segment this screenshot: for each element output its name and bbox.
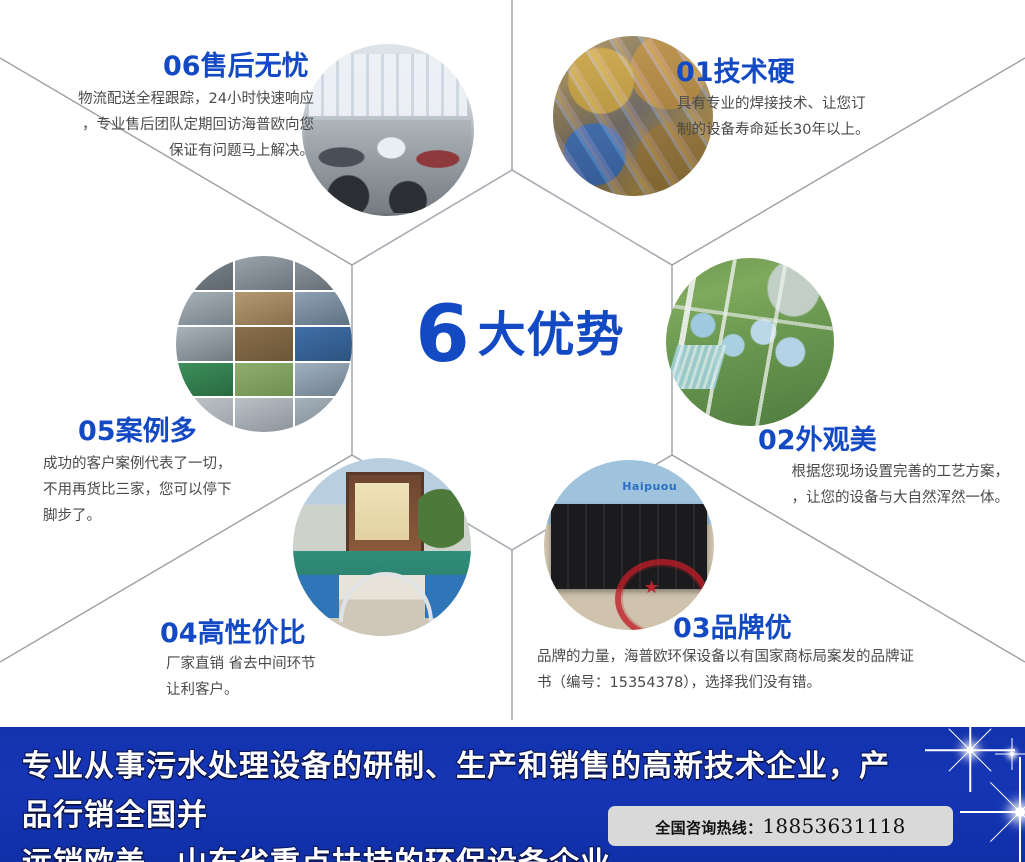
feature-title-05: 案例多 [116, 416, 197, 447]
center-headline: 6 大优势 [390, 290, 650, 380]
feature-desc-01-line1: 具有专业的焊接技术、让您订 [677, 92, 987, 118]
feature-desc-04-line1: 厂家直销 省去中间环节 [166, 652, 446, 678]
feature-photo-04 [293, 458, 471, 636]
feature-desc-06-line3: 保证有问题马上解决。 [22, 139, 314, 165]
hotline-number: 18853631118 [762, 814, 905, 838]
feature-desc-05-line1: 成功的客户案例代表了一切， [43, 452, 303, 478]
feature-title-04: 高性价比 [198, 618, 306, 649]
feature-heading-04: 04高性价比 [160, 611, 306, 650]
feature-heading-06: 06售后无忧 [163, 44, 309, 83]
feature-heading-05: 05案例多 [78, 409, 197, 448]
feature-number-05: 05 [78, 416, 116, 447]
six-advantages-infographic: 6 大优势 06售后无忧 物流配送全程跟踪，24小时快速响应 ，专业售后团队定期… [0, 0, 1025, 862]
feature-desc-06-line2: ，专业售后团队定期回访海普欧向您 [22, 113, 314, 139]
factory-gate-photo [293, 458, 471, 636]
feature-title-03: 品牌优 [711, 613, 792, 644]
feature-desc-03-line1: 品牌的力量，海普欧环保设备以有国家商标局案发的品牌证 [537, 645, 992, 671]
feature-title-06: 售后无忧 [201, 51, 309, 82]
feature-photo-03: Haipuou ★ [544, 460, 714, 630]
feature-desc-04-line2: 让利客户。 [166, 678, 446, 704]
feature-photo-06 [302, 44, 474, 216]
feature-heading-03: 03品牌优 [673, 606, 792, 645]
feature-number-01: 01 [676, 57, 714, 88]
center-label-text: 大优势 [478, 311, 625, 359]
feature-desc-03-line2: 书（编号：15354378），选择我们没有错。 [537, 671, 992, 697]
feature-desc-01: 具有专业的焊接技术、让您订 制的设备寿命延长30年以上。 [677, 92, 987, 144]
black-tank-equipment-photo: Haipuou ★ [544, 460, 714, 630]
sparkle-icon-3 [995, 737, 1025, 771]
feature-desc-02-line2: ，让您的设备与大自然浑然一体。 [697, 486, 1009, 512]
hotline-text: 全国咨询热线：18853631118 [655, 814, 905, 838]
feature-desc-04: 厂家直销 省去中间环节 让利客户。 [166, 652, 446, 704]
feature-desc-06: 物流配送全程跟踪，24小时快速响应 ，专业售后团队定期回访海普欧向您 保证有问题… [22, 87, 314, 164]
feature-desc-05-line3: 脚步了。 [43, 504, 303, 530]
sparkle-icon-2 [925, 727, 1015, 795]
feature-desc-06-line1: 物流配送全程跟踪，24小时快速响应 [22, 87, 314, 113]
feature-photo-02 [666, 258, 834, 426]
feature-number-06: 06 [163, 51, 201, 82]
gate-tree-decor [418, 476, 464, 561]
feature-number-03: 03 [673, 613, 711, 644]
feature-desc-01-line2: 制的设备寿命延长30年以上。 [677, 118, 987, 144]
feature-title-02: 外观美 [796, 425, 877, 456]
feature-desc-02: 根据您现场设置完善的工艺方案， ，让您的设备与大自然浑然一体。 [697, 460, 1009, 512]
aerial-sewage-plant-photo [666, 258, 834, 426]
feature-desc-03: 品牌的力量，海普欧环保设备以有国家商标局案发的品牌证 书（编号：15354378… [537, 645, 992, 697]
trademark-red-stamp-star: ★ [643, 579, 661, 597]
feature-title-01: 技术硬 [714, 57, 795, 88]
feature-heading-01: 01技术硬 [676, 50, 795, 89]
feature-desc-02-line1: 根据您现场设置完善的工艺方案， [697, 460, 1009, 486]
feature-desc-05-line2: 不用再货比三家，您可以停下 [43, 478, 303, 504]
sparkle-icon-1 [960, 752, 1025, 862]
feature-photo-05 [176, 256, 352, 432]
hotline-label: 全国咨询热线： [655, 819, 762, 837]
hotline-box[interactable]: 全国咨询热线：18853631118 [608, 806, 953, 846]
haipuou-logo-text: Haipuou [622, 480, 677, 493]
feature-number-02: 02 [758, 425, 796, 456]
center-number: 6 [415, 296, 467, 374]
feature-desc-05: 成功的客户案例代表了一切， 不用再货比三家，您可以停下 脚步了。 [43, 452, 303, 529]
office-workers-photo [302, 44, 474, 216]
feature-number-04: 04 [160, 618, 198, 649]
case-gallery-collage-photo [176, 256, 352, 432]
feature-heading-02: 02外观美 [758, 418, 877, 457]
